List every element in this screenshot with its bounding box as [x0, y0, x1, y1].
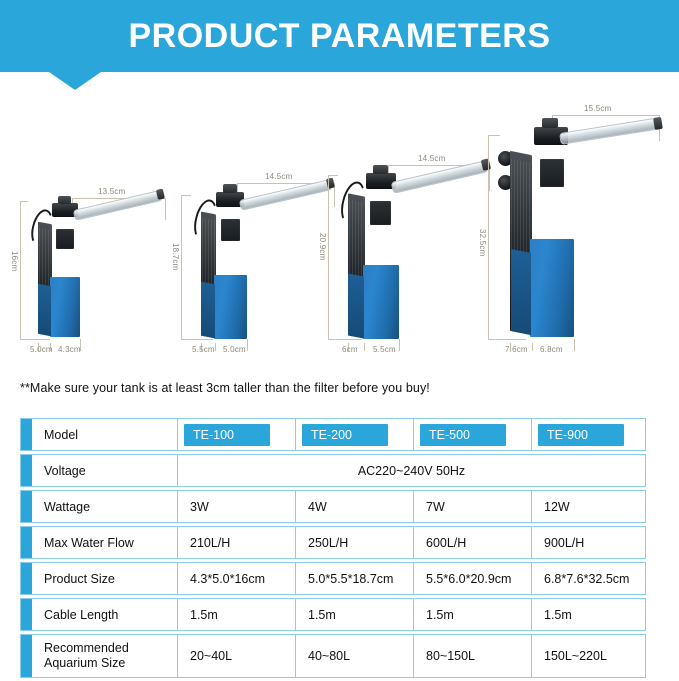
filter-body-upper: [214, 205, 247, 277]
model-cell-2: TE-200: [295, 419, 413, 450]
dim-label-depth: 7.6cm: [505, 345, 528, 354]
depth-dim-tick-mid: [215, 343, 216, 351]
model-chip: TE-500: [420, 424, 506, 446]
cable-cell-2: 1.5m: [295, 599, 413, 630]
row-label: Recommended Aquarium Size: [32, 635, 177, 677]
wattage-cell-4: 12W: [531, 491, 645, 522]
row-accent-bar: [21, 635, 32, 677]
model-chip: TE-100: [184, 424, 270, 446]
width-dim-tick-right: [399, 339, 400, 351]
size-cell-4: 6.8*7.6*32.5cm: [531, 563, 645, 594]
pump-head-knob: [542, 118, 558, 128]
aquarium-cell-1: 20~40L: [177, 635, 295, 677]
table-row-product-size: Product Size 4.3*5.0*16cm 5.0*5.5*18.7cm…: [20, 562, 646, 595]
height-dim-tick-bottom: [20, 339, 50, 340]
pump-head-knob: [223, 184, 237, 193]
product-label-plate: [540, 159, 564, 187]
row-label: Max Water Flow: [32, 527, 177, 558]
cable-cell-4: 1.5m: [531, 599, 645, 630]
row-accent-bar: [21, 455, 32, 486]
table-row-cable-length: Cable Length 1.5m 1.5m 1.5m 1.5m: [20, 598, 646, 631]
filter-body-lower-blue: [50, 277, 80, 337]
height-dim-tick-bottom: [328, 339, 362, 340]
filter-body-lower-blue: [530, 239, 574, 337]
table-row-model: Model TE-100 TE-200 TE-500 TE-900: [20, 418, 646, 451]
dim-label-depth: 6cm: [342, 345, 358, 354]
row-accent-bar: [21, 599, 32, 630]
dim-label-tube: 14.5cm: [418, 154, 445, 163]
filter-body-lower-blue: [214, 275, 247, 339]
wattage-cell-3: 7W: [413, 491, 531, 522]
flow-cell-1: 210L/H: [177, 527, 295, 558]
filter-body-upper: [530, 143, 574, 243]
table-row-recommended-aquarium-size: Recommended Aquarium Size 20~40L 40~80L …: [20, 634, 646, 678]
height-dim-tick-top: [488, 135, 500, 136]
table-row-max-water-flow: Max Water Flow 210L/H 250L/H 600L/H 900L…: [20, 526, 646, 559]
dim-label-tube: 13.5cm: [98, 187, 125, 196]
dim-label-width: 5.0cm: [223, 345, 246, 354]
row-label-line2: Aquarium Size: [44, 656, 125, 670]
height-dim-line: [488, 135, 489, 339]
table-row-voltage: Voltage AC220~240V 50Hz: [20, 454, 646, 487]
size-cell-3: 5.5*6.0*20.9cm: [413, 563, 531, 594]
specifications-table: Model TE-100 TE-200 TE-500 TE-900 Voltag…: [20, 418, 646, 681]
banner-notch-triangle: [49, 72, 101, 90]
tube-dim-line: [552, 115, 660, 116]
dim-label-tube: 15.5cm: [584, 104, 611, 113]
filter-body-lower-blue-side: [511, 249, 531, 335]
model-cell-1: TE-100: [177, 419, 295, 450]
height-dim-line: [181, 195, 182, 339]
pump-head-knob: [373, 165, 388, 174]
product-diagram-group: 16cm 13.5cm 5.0cm 4.3cm 18.7cm 14.5cm: [0, 95, 679, 365]
model-chip: TE-900: [538, 424, 624, 446]
dim-label-height: 32.5cm: [478, 229, 487, 256]
model-chip: TE-200: [302, 424, 388, 446]
width-dim-tick-right: [247, 339, 248, 351]
aquarium-cell-2: 40~80L: [295, 635, 413, 677]
depth-dim-tick-mid: [532, 343, 533, 351]
flow-cell-3: 600L/H: [413, 527, 531, 558]
row-accent-bar: [21, 491, 32, 522]
model-cell-4: TE-900: [531, 419, 645, 450]
cable-cell-1: 1.5m: [177, 599, 295, 630]
dim-label-width: 6.8cm: [540, 345, 563, 354]
dim-label-tube: 14.5cm: [265, 172, 292, 181]
filter-body-lower-blue: [363, 265, 399, 339]
row-label: Voltage: [32, 455, 177, 486]
table-row-wattage: Wattage 3W 4W 7W 12W: [20, 490, 646, 523]
dim-label-width: 5.5cm: [373, 345, 396, 354]
purchase-warning-note: **Make sure your tank is at least 3cm ta…: [20, 381, 430, 395]
row-label: Cable Length: [32, 599, 177, 630]
dim-label-depth: 5.5cm: [192, 345, 215, 354]
flow-cell-2: 250L/H: [295, 527, 413, 558]
dim-label-height: 20.9cm: [318, 233, 327, 260]
height-dim-line: [328, 175, 329, 339]
product-diagram-te-100: 16cm 13.5cm 5.0cm 4.3cm: [14, 193, 184, 353]
dim-label-depth: 5.0cm: [30, 345, 53, 354]
output-tube-end-cap: [653, 117, 663, 130]
height-dim-line: [20, 201, 21, 339]
cable-cell-3: 1.5m: [413, 599, 531, 630]
row-accent-bar: [21, 563, 32, 594]
width-dim-tick-right: [574, 339, 575, 351]
product-diagram-te-900: 32.5cm 15.5cm 7.6cm 6.8cm: [480, 109, 675, 353]
dim-label-height: 18.7cm: [171, 243, 180, 270]
model-cell-3: TE-500: [413, 419, 531, 450]
aquarium-cell-4: 150L~220L: [531, 635, 645, 677]
dim-label-width: 4.3cm: [58, 345, 81, 354]
dim-label-height: 16cm: [10, 251, 19, 271]
filter-body-lower-blue-side: [38, 284, 51, 337]
height-dim-tick-top: [328, 175, 338, 176]
filter-body-lower-blue-side: [348, 273, 364, 338]
wattage-cell-1: 3W: [177, 491, 295, 522]
row-label: Product Size: [32, 563, 177, 594]
product-label-plate: [370, 201, 391, 225]
page-title: PRODUCT PARAMETERS: [0, 0, 679, 72]
output-tube-end-cap: [156, 189, 165, 200]
height-dim-tick-top: [181, 195, 191, 196]
filter-body-upper: [363, 187, 399, 267]
height-dim-tick-bottom: [181, 339, 213, 340]
height-dim-tick-bottom: [488, 339, 526, 340]
voltage-value: AC220~240V 50Hz: [177, 455, 645, 486]
filter-body-lower-blue-side: [201, 282, 215, 339]
product-label-plate: [221, 219, 240, 241]
product-label-plate: [56, 229, 74, 249]
row-label: Model: [32, 419, 177, 450]
row-accent-bar: [21, 419, 32, 450]
height-dim-tick-top: [20, 201, 28, 202]
page-header-banner: PRODUCT PARAMETERS: [0, 0, 679, 72]
aquarium-cell-3: 80~150L: [413, 635, 531, 677]
output-tube: [559, 117, 662, 145]
wattage-cell-2: 4W: [295, 491, 413, 522]
size-cell-2: 5.0*5.5*18.7cm: [295, 563, 413, 594]
pump-head-knob: [58, 196, 71, 204]
tube-dim-tick-right: [165, 198, 166, 220]
size-cell-1: 4.3*5.0*16cm: [177, 563, 295, 594]
row-label-line1: Recommended: [44, 641, 129, 655]
row-label: Wattage: [32, 491, 177, 522]
row-accent-bar: [21, 527, 32, 558]
flow-cell-4: 900L/H: [531, 527, 645, 558]
depth-dim-tick-mid: [364, 343, 365, 351]
